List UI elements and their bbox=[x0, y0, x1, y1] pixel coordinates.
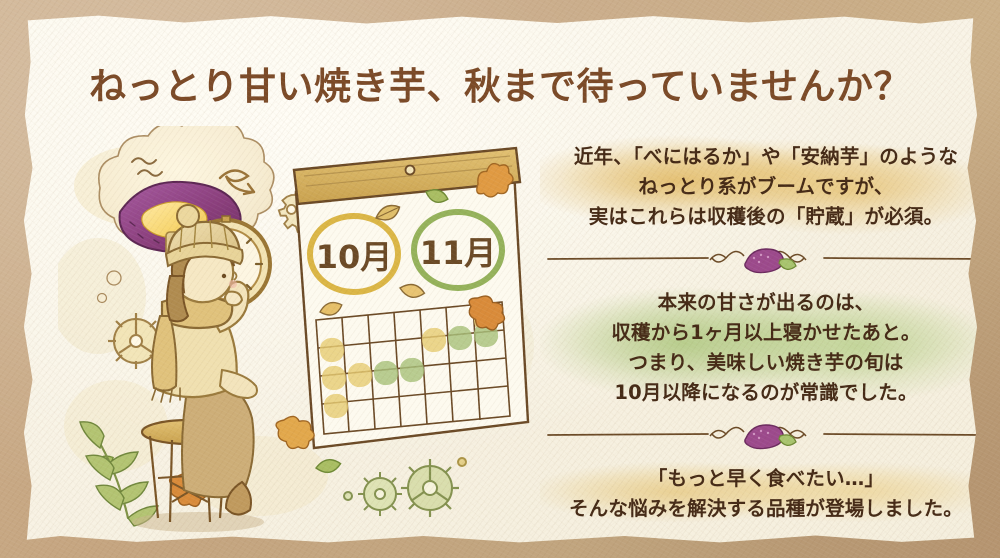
divider-ornament-1 bbox=[540, 242, 978, 276]
intro-line-2: ねっとり系がブームですが、 bbox=[540, 172, 978, 202]
gear-icon bbox=[358, 472, 402, 516]
illustration-panel: 熟成中 bbox=[58, 126, 538, 544]
conclusion-line-1: 「もっと早く食べたい…」 bbox=[540, 464, 978, 494]
detail-line-1: 本来の甘さが出るのは、 bbox=[540, 288, 978, 318]
intro-line-1: 近年、「べにはるか」や「安納芋」のような bbox=[540, 142, 978, 172]
month-badge-10-label: 10月 bbox=[316, 238, 393, 276]
sweet-potato-ornament-icon bbox=[745, 425, 783, 449]
month-badge-11-label: 11月 bbox=[420, 234, 497, 272]
conclusion-line-2: そんな悩みを解決する品種が登場しました。 bbox=[540, 494, 978, 524]
poster-root: ねっとり甘い焼き芋、秋まで待っていませんか？ bbox=[0, 0, 1000, 558]
text-column: 近年、「べにはるか」や「安納芋」のような ねっとり系がブームですが、 実はこれら… bbox=[540, 132, 978, 542]
sweet-potato-ornament-icon bbox=[745, 249, 783, 273]
page-title: ねっとり甘い焼き芋、秋まで待っていませんか？ bbox=[22, 56, 978, 110]
detail-line-2: 収穫から1ヶ月以上寝かせたあと。 bbox=[540, 318, 978, 348]
divider-ornament-2 bbox=[540, 418, 978, 452]
intro-line-3: 実はこれらは収穫後の「貯蔵」が必須。 bbox=[540, 202, 978, 232]
torn-paper-panel: ねっとり甘い焼き芋、秋まで待っていませんか？ bbox=[22, 14, 978, 544]
gear-icon bbox=[401, 459, 459, 517]
text-block-intro: 近年、「べにはるか」や「安納芋」のような ねっとり系がブームですが、 実はこれら… bbox=[540, 132, 978, 238]
text-block-conclusion: 「もっと早く食べたい…」 そんな悩みを解決する品種が登場しました。 bbox=[540, 454, 978, 530]
text-block-detail: 本来の甘さが出るのは、 収穫から1ヶ月以上寝かせたあと。 つまり、美味しい焼き芋… bbox=[540, 278, 978, 414]
eye-icon bbox=[222, 274, 226, 278]
detail-line-3: つまり、美味しい焼き芋の旬は bbox=[540, 348, 978, 378]
detail-line-4: 10月以降になるのが常識でした。 bbox=[540, 378, 978, 408]
gear-icon-group-bottom bbox=[344, 458, 466, 517]
